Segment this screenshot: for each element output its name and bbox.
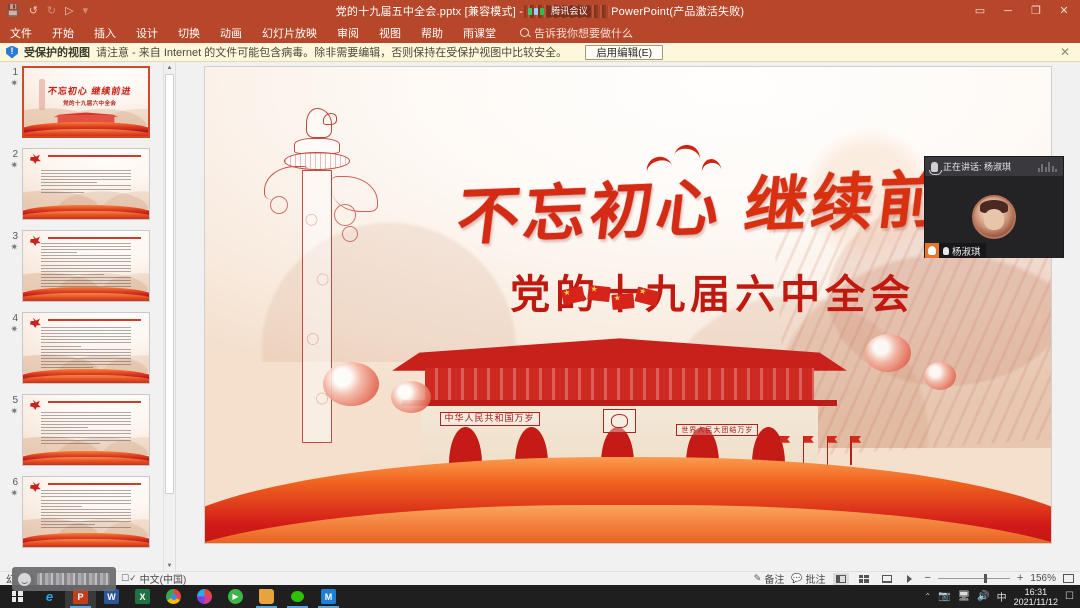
zoom-out-button[interactable]: −: [925, 573, 931, 584]
thumb-number: 3 ✷: [0, 230, 22, 302]
thumbnail-slide-4[interactable]: [22, 312, 150, 384]
taskbar-item-chrome[interactable]: [158, 585, 189, 608]
ime-indicator[interactable]: 中: [997, 589, 1007, 604]
volume-icon[interactable]: 🔊: [977, 591, 989, 602]
tab-slideshow[interactable]: 幻灯片放映: [252, 22, 327, 43]
status-bar: 幻灯片 第 1 张，共 7 张 ☐✓ 中文(中国) ✎ 备注 💬 批注 − + …: [0, 571, 1080, 585]
taskbar-item-media-player[interactable]: ▶: [220, 585, 251, 608]
list-item[interactable]: 4 ✷: [0, 312, 163, 384]
ribbon-display-options-icon[interactable]: ▭: [966, 0, 994, 22]
enable-editing-button[interactable]: 启用编辑(E): [585, 45, 663, 60]
wechat-icon: [290, 589, 305, 604]
close-icon[interactable]: ✕: [1050, 0, 1078, 22]
media-player-icon: ▶: [228, 589, 243, 604]
cloud-puff: [924, 362, 956, 390]
list-item[interactable]: 3 ✷: [0, 230, 163, 302]
window-title-main: 党的十九届五中全会.pptx [兼容模式] -: [336, 3, 523, 19]
thumb-number: 5 ✷: [0, 394, 22, 466]
clock[interactable]: 16:31 2021/11/12: [1014, 587, 1058, 607]
list-item[interactable]: 6 ✷: [0, 476, 163, 548]
powerpoint-window: 💾 ↺ ↻ ▷ ▾ 党的十九届五中全会.pptx [兼容模式] - 腾讯会议 P…: [0, 0, 1080, 585]
ribbon-tab-bar: 文件 开始 插入 设计 切换 动画 幻灯片放映 审阅 视图 帮助 雨课堂 告诉我…: [0, 22, 1080, 43]
host-icon: [925, 243, 939, 258]
normal-view-button[interactable]: [833, 573, 849, 585]
scroll-up-icon[interactable]: ▲: [164, 62, 175, 73]
clock-date: 2021/11/12: [1014, 597, 1058, 607]
participant-name: 杨淑琪: [952, 244, 981, 258]
edge-icon: e: [42, 589, 57, 604]
animation-star-icon: ✷: [0, 78, 18, 88]
thumb-number: 4 ✷: [0, 312, 22, 384]
photos-icon: [197, 589, 212, 604]
taskbar-item-excel[interactable]: X: [127, 585, 158, 608]
windows-start-icon: [12, 591, 23, 602]
headline-part-1: 不忘初心: [453, 171, 727, 254]
animation-star-icon: ✷: [0, 242, 18, 252]
comments-label: 批注: [806, 571, 826, 586]
tab-design[interactable]: 设计: [126, 22, 168, 43]
tab-view[interactable]: 视图: [369, 22, 411, 43]
lion-statue-icon: [306, 108, 332, 138]
video-conference-header: 正在讲话: 杨淑琪: [925, 157, 1063, 176]
protected-view-bar: 受保护的视图 请注意 - 来自 Internet 的文件可能包含病毒。除非需要编…: [0, 43, 1080, 62]
list-item[interactable]: 5 ✷: [0, 394, 163, 466]
tab-home[interactable]: 开始: [42, 22, 84, 43]
taskbar: e P W X ▶ M ⌃ 📷 🖥 🔊 中 16:31 2021/11: [0, 585, 1080, 608]
video-tile[interactable]: 杨淑琪: [925, 176, 1063, 258]
file-explorer-icon: [259, 589, 274, 604]
animation-star-icon: ✷: [0, 324, 18, 334]
zoom-slider[interactable]: [938, 578, 1010, 579]
taskbar-item-wechat[interactable]: [282, 585, 313, 608]
slide-stage: 不忘初心继续前进 党的十九届六中全会 中华人民共和国万岁: [178, 62, 1080, 571]
zoom-slider-handle[interactable]: [984, 574, 987, 583]
window-title-tail: PowerPoint(产品激活失败): [611, 3, 744, 19]
chrome-icon: [166, 589, 181, 604]
slide-sorter-button[interactable]: [856, 573, 872, 585]
participant-name-badge: 杨淑琪: [925, 243, 986, 258]
language-label: 中文(中国): [140, 571, 187, 586]
current-slide[interactable]: 不忘初心继续前进 党的十九届六中全会 中华人民共和国万岁: [204, 66, 1052, 544]
tab-file[interactable]: 文件: [0, 22, 42, 43]
reading-view-button[interactable]: [879, 573, 895, 585]
zoom-level-label[interactable]: 156%: [1030, 573, 1056, 584]
clock-time: 16:31: [1014, 587, 1058, 597]
window-title: 党的十九届五中全会.pptx [兼容模式] - 腾讯会议 PowerPoint(…: [0, 0, 1080, 22]
animation-star-icon: ✷: [0, 160, 18, 170]
speaking-label: 正在讲话: 杨淑琪: [943, 160, 1011, 173]
excel-icon: X: [135, 589, 150, 604]
thumbnail-slide-3[interactable]: [22, 230, 150, 302]
meeting-app-label: 腾讯会议: [548, 6, 591, 17]
thumb-number: 1 ✷: [0, 66, 22, 138]
close-icon[interactable]: ✕: [1056, 45, 1074, 59]
thumbnail-slide-1[interactable]: 不忘初心 继续前进 党的十九届六中全会: [22, 66, 150, 138]
cloud-puff: [865, 334, 911, 372]
banner-right: 世界人民大团结万岁: [676, 424, 758, 436]
animation-star-icon: ✷: [0, 406, 18, 416]
spellcheck-icon: ☐✓: [121, 573, 137, 584]
thumb-number: 2 ✷: [0, 148, 22, 220]
notes-label: 备注: [764, 571, 784, 586]
search-icon: [520, 28, 529, 37]
thumbnail-list: 1 ✷ 不忘初心 继续前进 党的十九届六中全会: [0, 62, 163, 571]
seewo-icon: M: [321, 589, 336, 604]
slideshow-button[interactable]: [902, 573, 918, 585]
avatar: [972, 195, 1016, 239]
shield-icon: [6, 46, 18, 59]
comment-icon: 💬: [791, 573, 802, 584]
fit-to-window-icon[interactable]: [1063, 574, 1074, 583]
powerpoint-icon: P: [73, 589, 88, 604]
taskbar-item-seewo[interactable]: M: [313, 585, 344, 608]
notification-icon[interactable]: ☐: [1065, 591, 1074, 602]
tab-animations[interactable]: 动画: [210, 22, 252, 43]
banner-left: 中华人民共和国万岁: [440, 412, 540, 426]
screenshot-icon[interactable]: 📷: [938, 591, 950, 602]
workspace: 1 ✷ 不忘初心 继续前进 党的十九届六中全会: [0, 62, 1080, 571]
tab-insert[interactable]: 插入: [84, 22, 126, 43]
flag-cluster-illustration: [552, 286, 738, 362]
protected-view-message: 请注意 - 来自 Internet 的文件可能包含病毒。除非需要编辑，否则保持在…: [96, 44, 567, 60]
tab-help[interactable]: 帮助: [411, 22, 453, 43]
portrait-frame: [603, 409, 636, 433]
title-bar: 💾 ↺ ↻ ▷ ▾ 党的十九届五中全会.pptx [兼容模式] - 腾讯会议 P…: [0, 0, 1080, 22]
slide-thumbnail-pane[interactable]: 1 ✷ 不忘初心 继续前进 党的十九届六中全会: [0, 62, 163, 571]
language-status[interactable]: ☐✓ 中文(中国): [121, 571, 186, 586]
microphone-icon: [943, 247, 949, 255]
window-controls: ▭ ─ ❐ ✕: [966, 0, 1078, 22]
notes-button[interactable]: ✎ 备注: [754, 571, 785, 586]
emoji-icon[interactable]: [18, 573, 31, 586]
comments-button[interactable]: 💬 批注: [791, 571, 825, 586]
minimize-icon[interactable]: ─: [994, 0, 1022, 22]
notes-icon: ✎: [754, 573, 762, 584]
red-ribbon-wave-3: [204, 543, 1052, 544]
list-item[interactable]: 1 ✷ 不忘初心 继续前进 党的十九届六中全会: [0, 66, 163, 138]
thumbnail-slide-2[interactable]: [22, 148, 150, 220]
restore-icon[interactable]: ❐: [1022, 0, 1050, 22]
scrollbar-thumb[interactable]: [165, 74, 174, 494]
word-icon: W: [104, 589, 119, 604]
network-icon[interactable]: 🖥: [957, 591, 970, 602]
ime-candidate-overlay[interactable]: [12, 567, 116, 591]
animation-star-icon: ✷: [0, 488, 18, 498]
zoom-in-button[interactable]: +: [1017, 573, 1023, 584]
video-conference-overlay[interactable]: 正在讲话: 杨淑琪 杨淑琪: [924, 156, 1064, 258]
tab-review[interactable]: 审阅: [327, 22, 369, 43]
microphone-icon: [931, 162, 938, 172]
tab-transitions[interactable]: 切换: [168, 22, 210, 43]
show-hidden-icons-icon[interactable]: ⌃: [924, 592, 931, 601]
title-blurred-region: 腾讯会议: [524, 5, 610, 18]
list-item[interactable]: 2 ✷: [0, 148, 163, 220]
tell-me-search[interactable]: 告诉我你想要做什么: [520, 25, 633, 41]
thumbnail-slide-5[interactable]: [22, 394, 150, 466]
thumbnail-scrollbar[interactable]: ▲ ▼: [163, 62, 174, 571]
taskbar-item-photos[interactable]: [189, 585, 220, 608]
system-tray: ⌃ 📷 🖥 🔊 中 16:31 2021/11/12 ☐: [924, 587, 1080, 607]
thumb-number: 6 ✷: [0, 476, 22, 548]
ime-blurred-text: [37, 573, 110, 585]
tell-me-placeholder: 告诉我你想要做什么: [534, 25, 633, 41]
tab-rain-classroom[interactable]: 雨课堂: [453, 22, 506, 43]
taskbar-item-file-explorer[interactable]: [251, 585, 282, 608]
thumbnail-slide-6[interactable]: [22, 476, 150, 548]
scroll-down-icon[interactable]: ▼: [164, 560, 175, 571]
audio-waveform-icon: [1038, 161, 1058, 172]
protected-view-label: 受保护的视图: [24, 44, 90, 60]
